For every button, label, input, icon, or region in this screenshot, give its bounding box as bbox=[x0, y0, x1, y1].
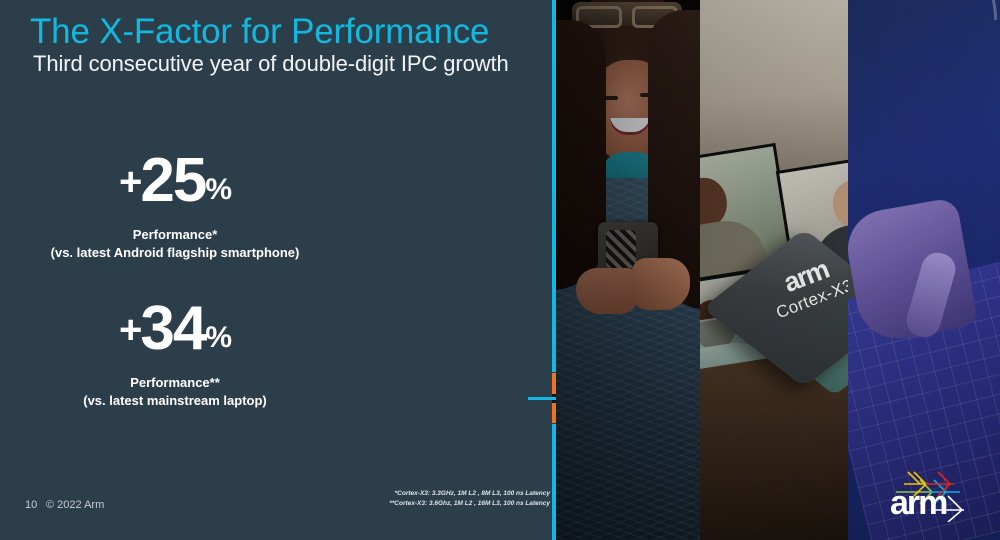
stat-plus-sign: + bbox=[119, 308, 140, 352]
stat-label: Performance** bbox=[0, 375, 405, 391]
page-title: The X-Factor for Performance bbox=[30, 12, 489, 52]
image-strip: arm Cortex-X3 bbox=[556, 0, 1000, 540]
footnote-line-1: *Cortex-X3: 3.3GHz, 1M L2 , 8M L3, 100 n… bbox=[330, 489, 550, 499]
photo-young-woman-using-smartphone bbox=[556, 0, 700, 540]
footnote-line-2: **Cortex-X3: 3.6Ghz, 1M L2 , 16M L3, 100… bbox=[330, 499, 550, 509]
arm-wordmark: arm bbox=[890, 486, 946, 520]
copyright-notice: © 2022 Arm bbox=[46, 499, 104, 511]
slide-canvas: The X-Factor for Performance Third conse… bbox=[0, 0, 1000, 540]
photo-hand-typing-on-laptop bbox=[848, 0, 1000, 540]
stat-block-performance-laptop: +34% Performance** (vs. latest mainstrea… bbox=[0, 298, 405, 409]
phone-camera-module bbox=[606, 230, 636, 268]
stat-comparison: (vs. latest mainstream laptop) bbox=[0, 392, 405, 409]
stat-percent-sign: % bbox=[205, 321, 231, 354]
page-number: 10 bbox=[25, 499, 37, 511]
hand-right bbox=[632, 258, 690, 310]
stat-value: +34% bbox=[0, 298, 405, 369]
arm-logo: arm bbox=[890, 466, 990, 522]
stat-block-performance-smartphone: +25% Performance* (vs. latest Android fl… bbox=[0, 150, 405, 261]
content-panel: The X-Factor for Performance Third conse… bbox=[0, 0, 552, 540]
stat-label: Performance* bbox=[0, 227, 405, 243]
stat-number: 25 bbox=[140, 146, 205, 215]
stat-comparison: (vs. latest Android flagship smartphone) bbox=[0, 244, 405, 261]
stat-plus-sign: + bbox=[119, 160, 140, 204]
hand-left bbox=[576, 268, 638, 314]
stat-number: 34 bbox=[140, 294, 205, 363]
stat-value: +25% bbox=[0, 150, 405, 221]
page-subtitle: Third consecutive year of double-digit I… bbox=[33, 51, 509, 77]
stat-percent-sign: % bbox=[205, 173, 231, 206]
footnotes: *Cortex-X3: 3.3GHz, 1M L2 , 8M L3, 100 n… bbox=[330, 489, 550, 508]
